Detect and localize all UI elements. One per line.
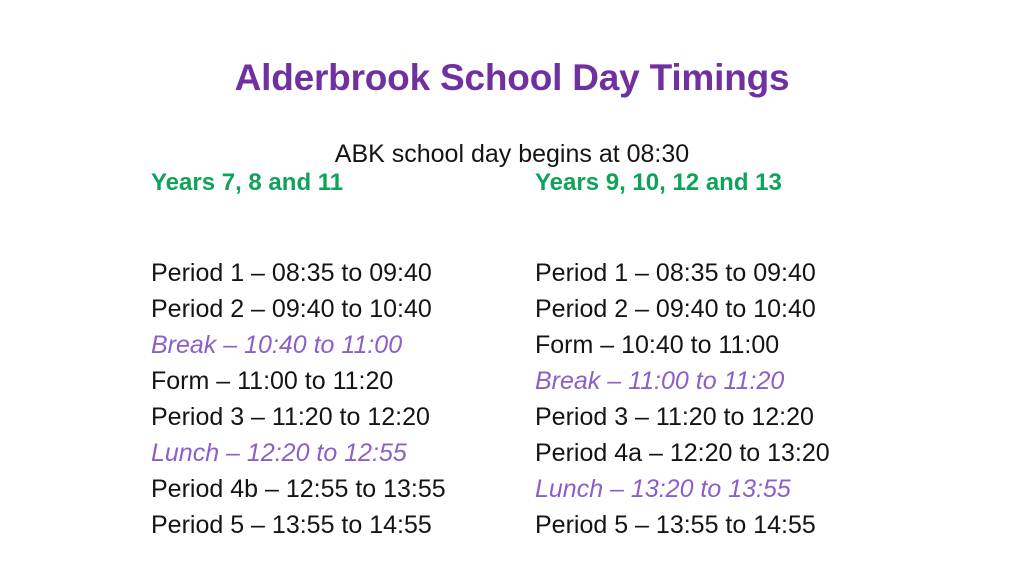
schedule-row: Period 2 – 09:40 to 10:40 bbox=[535, 291, 935, 327]
schedule-row: Period 1 – 08:35 to 09:40 bbox=[151, 255, 531, 291]
schedule-row: Period 3 – 11:20 to 12:20 bbox=[151, 399, 531, 435]
timetable-column-years-9-10-12-13: Years 9, 10, 12 and 13 Period 1 – 08:35 … bbox=[535, 168, 935, 492]
schedule-row: Period 5 – 13:55 to 14:55 bbox=[535, 507, 935, 543]
column-heading-left: Years 7, 8 and 11 bbox=[151, 168, 531, 198]
schedule-row: Period 4b – 12:55 to 13:55 bbox=[151, 471, 531, 507]
schedule-row: Period 3 – 11:20 to 12:20 bbox=[535, 399, 935, 435]
schedule-row: Lunch – 12:20 to 12:55 bbox=[151, 435, 531, 471]
page-title: Alderbrook School Day Timings bbox=[0, 57, 1024, 100]
schedule-row: Period 1 – 08:35 to 09:40 bbox=[535, 255, 935, 291]
timetable-column-years-7-8-11: Years 7, 8 and 11 Period 1 – 08:35 to 09… bbox=[151, 168, 531, 492]
schedule-row: Period 2 – 09:40 to 10:40 bbox=[151, 291, 531, 327]
schedule-list-right: Period 1 – 08:35 to 09:40 Period 2 – 09:… bbox=[535, 255, 935, 543]
schedule-row: Break – 11:00 to 11:20 bbox=[535, 363, 935, 399]
schedule-row: Period 5 – 13:55 to 14:55 bbox=[151, 507, 531, 543]
slide-subtitle: ABK school day begins at 08:30 bbox=[0, 139, 1024, 169]
timetable-columns: Years 7, 8 and 11 Period 1 – 08:35 to 09… bbox=[0, 168, 1024, 538]
schedule-row: Period 4a – 12:20 to 13:20 bbox=[535, 435, 935, 471]
column-heading-right: Years 9, 10, 12 and 13 bbox=[535, 168, 935, 198]
schedule-list-left: Period 1 – 08:35 to 09:40 Period 2 – 09:… bbox=[151, 255, 531, 543]
schedule-row: Break – 10:40 to 11:00 bbox=[151, 327, 531, 363]
slide-canvas: Alderbrook School Day Timings ABK school… bbox=[0, 0, 1024, 576]
schedule-row: Form – 10:40 to 11:00 bbox=[535, 327, 935, 363]
schedule-row: Lunch – 13:20 to 13:55 bbox=[535, 471, 935, 507]
schedule-row: Form – 11:00 to 11:20 bbox=[151, 363, 531, 399]
